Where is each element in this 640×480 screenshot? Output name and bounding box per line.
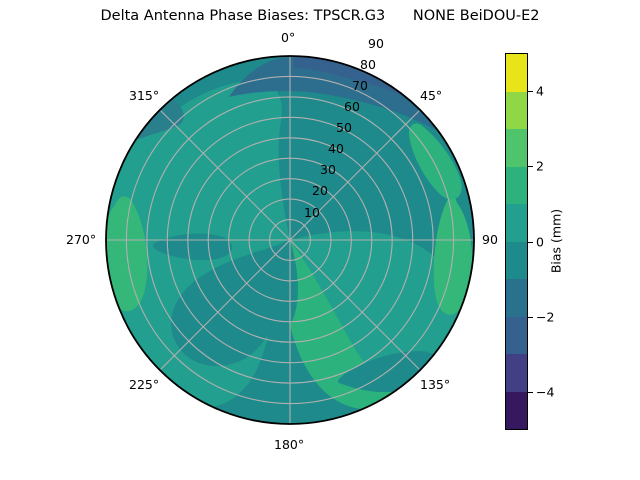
colorbar-tick-label-4: 4: [536, 83, 544, 98]
colorbar[interactable]: 4 2 0 −2 −4: [505, 53, 528, 430]
radial-tick-70: 70: [352, 78, 368, 93]
colorbar-tick-label-0: 0: [536, 234, 544, 249]
colorbar-band-8: [506, 92, 527, 130]
colorbar-tick-mark-neg4: [528, 392, 533, 393]
colorbar-tick-label-neg2: −2: [536, 309, 554, 324]
colorbar-gradient: [505, 53, 528, 430]
angular-tick-135: 135°: [420, 377, 450, 392]
colorbar-axis-label: Bias (mm): [549, 209, 564, 273]
polar-plot-svg: [105, 55, 475, 425]
colorbar-tick-mark-4: [528, 91, 533, 92]
radial-tick-50: 50: [336, 120, 352, 135]
angular-tick-45: 45°: [420, 88, 442, 103]
colorbar-tick-label-neg4: −4: [536, 385, 554, 400]
angular-tick-315: 315°: [129, 88, 159, 103]
radial-tick-40: 40: [328, 141, 344, 156]
angular-tick-270: 270°: [66, 232, 96, 247]
colorbar-band-0: [506, 392, 527, 430]
colorbar-band-2: [506, 317, 527, 355]
radial-tick-30: 30: [320, 162, 336, 177]
colorbar-band-6: [506, 167, 527, 205]
angular-tick-225: 225°: [129, 377, 159, 392]
angular-tick-0: 0°: [281, 30, 295, 45]
colorbar-band-7: [506, 129, 527, 167]
polar-axes: 10 20 30 40 50 60 70 80 90: [105, 55, 475, 425]
colorbar-band-9: [506, 54, 527, 92]
radial-tick-80: 80: [360, 57, 376, 72]
colorbar-band-3: [506, 279, 527, 317]
colorbar-tick-mark-2: [528, 166, 533, 167]
page-title: Delta Antenna Phase Biases: TPSCR.G3 NON…: [0, 8, 640, 24]
colorbar-tick-mark-neg2: [528, 317, 533, 318]
colorbar-band-4: [506, 242, 527, 280]
polar-grid: [106, 56, 474, 424]
radial-tick-10: 10: [304, 205, 320, 220]
colorbar-band-5: [506, 204, 527, 242]
radial-tick-60: 60: [344, 99, 360, 114]
angular-tick-90: 90: [482, 232, 498, 247]
colorbar-tick-mark-0: [528, 242, 533, 243]
radial-tick-20: 20: [312, 183, 328, 198]
colorbar-band-1: [506, 354, 527, 392]
colorbar-tick-label-2: 2: [536, 159, 544, 174]
figure-canvas: Delta Antenna Phase Biases: TPSCR.G3 NON…: [0, 0, 640, 480]
radial-tick-90: 90: [368, 36, 384, 51]
angular-tick-180: 180°: [274, 437, 304, 452]
